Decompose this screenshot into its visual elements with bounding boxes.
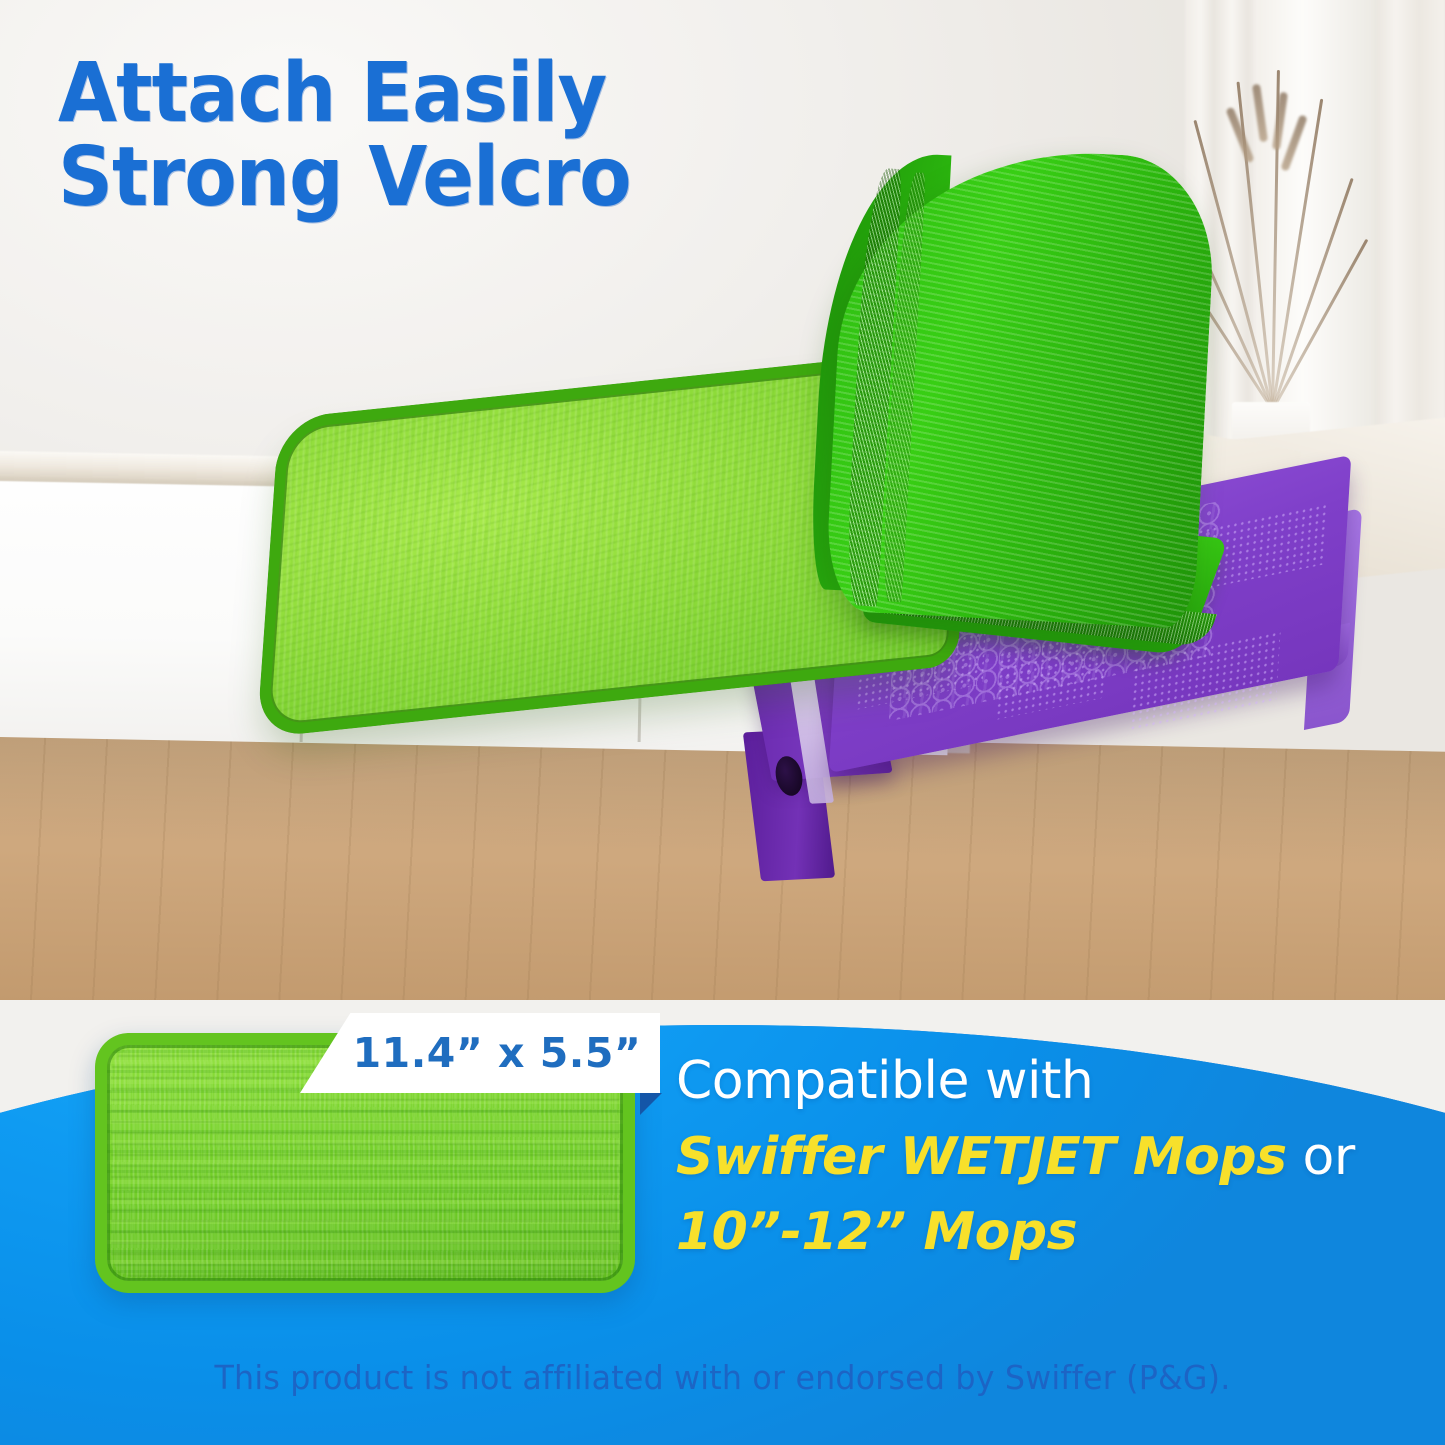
compatibility-line-1: Compatible with: [676, 1048, 1376, 1116]
dimension-badge-fold: [640, 1093, 662, 1115]
disclaimer-text: This product is not affiliated with or e…: [29, 1358, 1416, 1397]
dried-pampas-plant: [1232, 70, 1310, 410]
compatibility-conjunction: or: [1287, 1127, 1355, 1187]
page-title: Attach Easily Strong Velcro: [58, 52, 765, 219]
dimension-badge: 11.4” x 5.5”: [300, 1013, 660, 1093]
product-infographic: Attach Easily Strong Velcro 11.4” x 5.5”…: [0, 0, 1445, 1445]
compatibility-block: Compatible with Swiffer WETJET Mops or 1…: [676, 1048, 1376, 1267]
compatibility-line-3: 10”-12” Mops: [676, 1199, 1376, 1267]
compatibility-highlight-swiffer: Swiffer WETJET Mops: [676, 1127, 1287, 1187]
dimension-badge-label: 11.4” x 5.5”: [319, 1029, 642, 1077]
compatibility-line-2: Swiffer WETJET Mops or: [676, 1124, 1376, 1192]
compatibility-highlight-size: 10”-12” Mops: [676, 1202, 1077, 1262]
